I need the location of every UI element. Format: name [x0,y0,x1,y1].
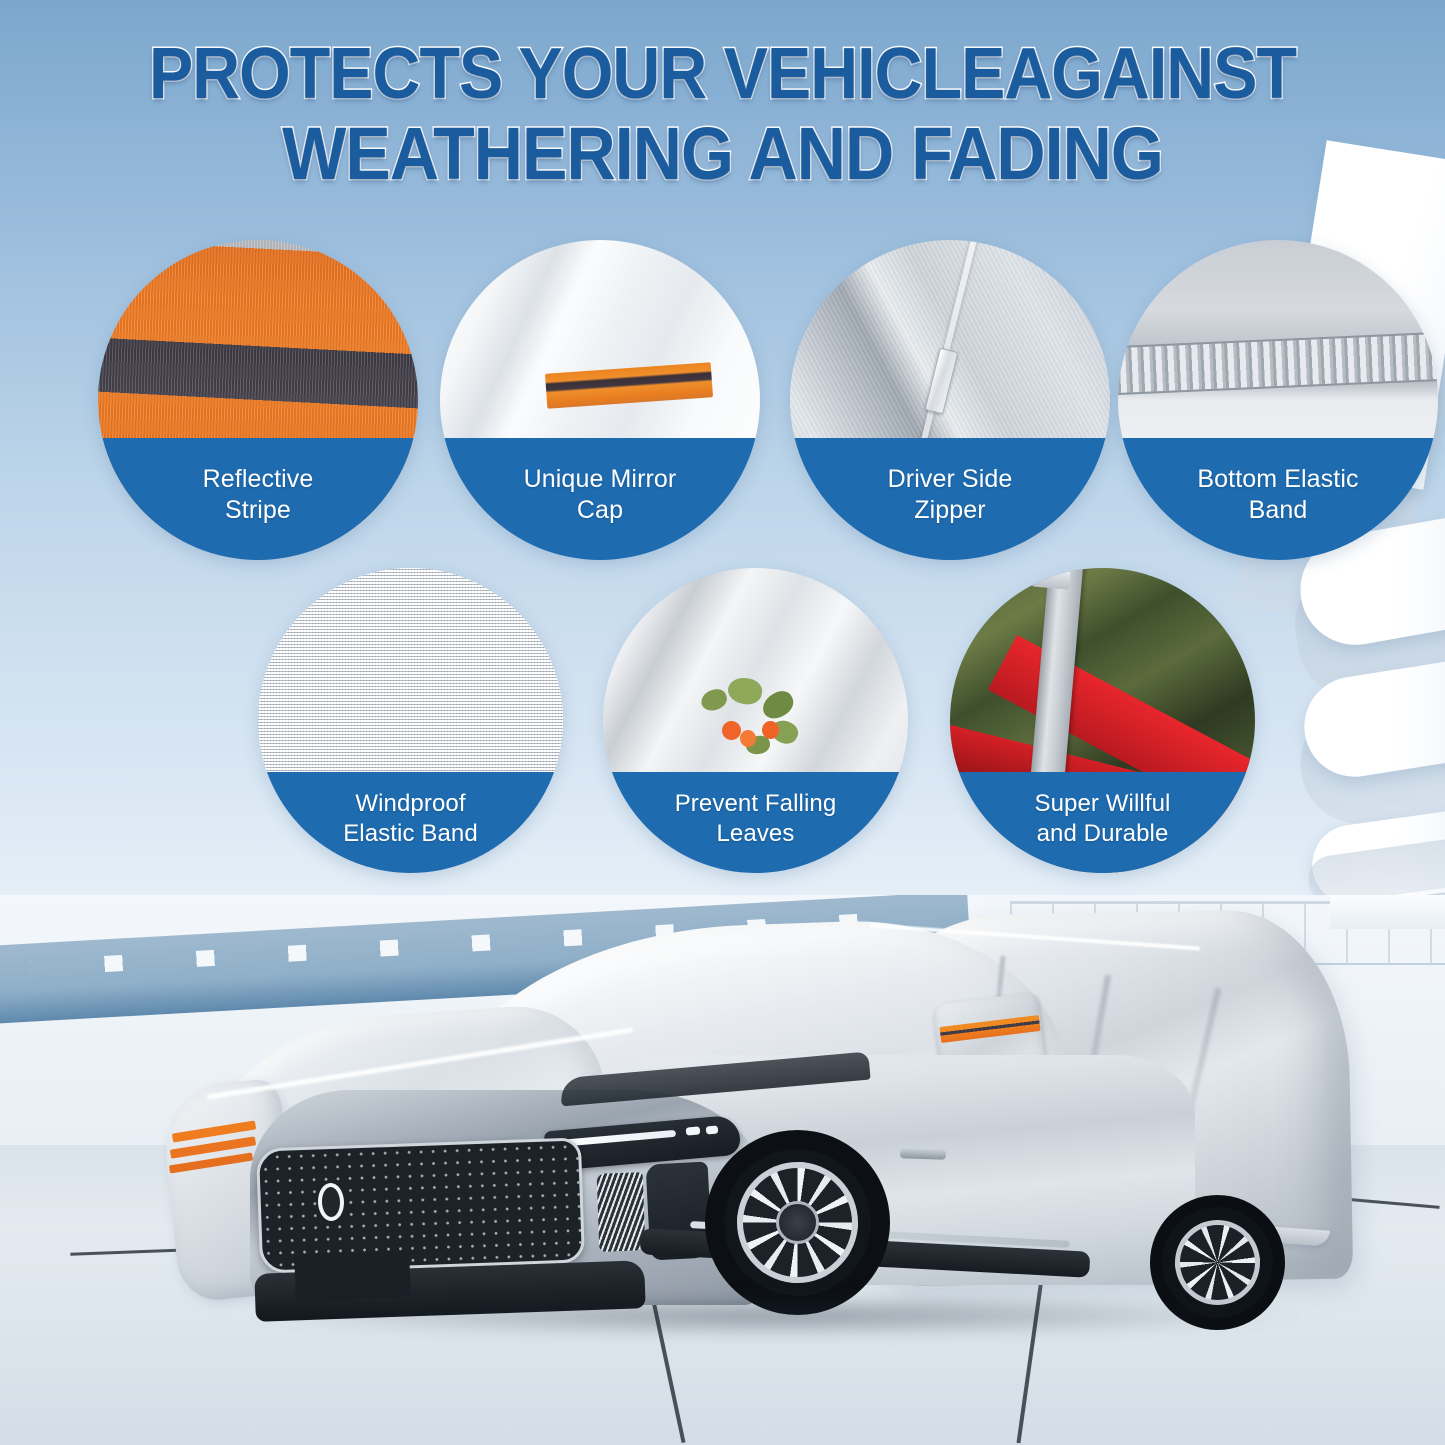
car-license-plate [294,1251,411,1301]
feature-label-super-willful-and-durable: Super Willfuland Durable [950,772,1255,873]
feature-label-line1: Windproof [355,790,465,817]
car-headlight-drl [686,1126,701,1135]
feature-label-line2: Zipper [914,496,985,524]
car-headlight-drl [706,1125,719,1134]
feature-circle-windproof-elastic-band[interactable]: WindproofElastic Band [258,568,563,873]
feature-label-prevent-falling-leaves: Prevent FallingLeaves [603,772,908,873]
car-rear-wheel-rim [1175,1220,1260,1305]
feature-label-line2: Leaves [716,820,794,847]
feature-label-line2: Cap [577,496,623,524]
hero-product-photo [0,895,1445,1445]
headline-line-1: PROTECTS YOUR VEHICLEAGAINST [58,34,1387,114]
car-grille [256,1137,585,1273]
headline-line-2: WEATHERING AND FADING [58,114,1387,194]
feature-circle-bottom-elastic-band[interactable]: Bottom ElasticBand [1118,240,1438,560]
car-front-wheel-hub [776,1201,819,1244]
feature-label-line1: Reflective [203,465,314,493]
feature-label-line2: Elastic Band [343,820,478,847]
background-structure-right [1330,895,1445,929]
feature-circle-prevent-falling-leaves[interactable]: Prevent FallingLeaves [603,568,908,873]
feature-label-line2: Stripe [225,496,291,524]
feature-circle-unique-mirror-cap[interactable]: Unique MirrorCap [440,240,760,560]
feature-label-line1: Driver Side [888,465,1013,493]
poster-canvas: PROTECTS YOUR VEHICLEAGAINST WEATHERING … [0,0,1445,1445]
feature-label-line2: and Durable [1037,820,1169,847]
feature-circle-reflective-stripe[interactable]: ReflectiveStripe [98,240,418,560]
car-side-vent [597,1172,646,1252]
car-ground-shadow [250,1295,1300,1337]
feature-label-driver-side-zipper: Driver SideZipper [790,438,1110,560]
feature-circle-super-willful-and-durable[interactable]: Super Willfuland Durable [950,568,1255,873]
feature-label-windproof-elastic-band: WindproofElastic Band [258,772,563,873]
feature-label-reflective-stripe: ReflectiveStripe [98,438,418,560]
feature-label-unique-mirror-cap: Unique MirrorCap [440,438,760,560]
car-door-handle [900,1148,946,1160]
headline-block: PROTECTS YOUR VEHICLEAGAINST WEATHERING … [0,34,1445,194]
feature-label-line2: Band [1249,496,1308,524]
feature-label-line1: Unique Mirror [524,465,677,493]
feature-label-bottom-elastic-band: Bottom ElasticBand [1118,438,1438,560]
feature-label-line1: Bottom Elastic [1197,465,1358,493]
feature-label-line1: Super Willful [1034,790,1170,817]
feature-label-line1: Prevent Falling [675,790,837,817]
feature-circle-driver-side-zipper[interactable]: Driver SideZipper [790,240,1110,560]
